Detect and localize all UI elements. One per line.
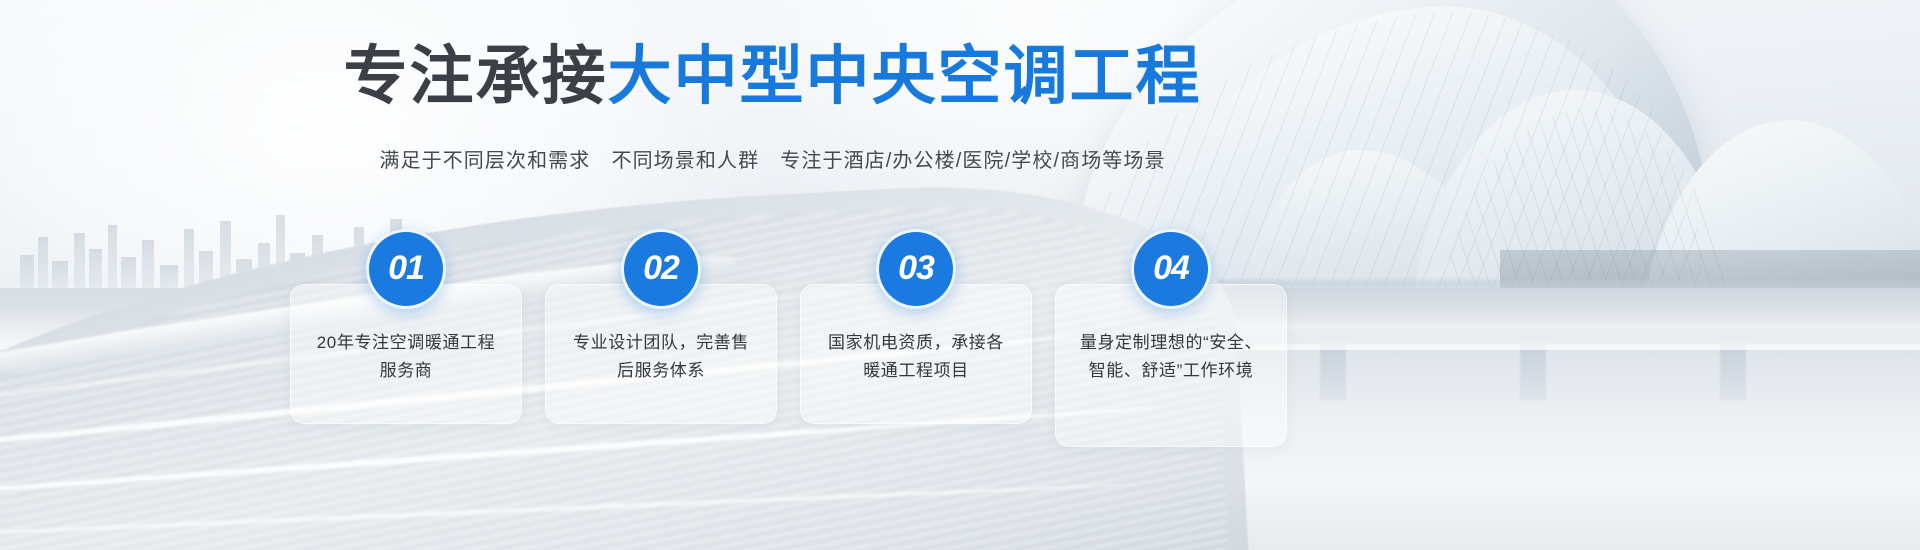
feature-card-body: 04 量身定制理想的“安全、智能、舒适”工作环境: [1055, 284, 1287, 447]
feature-card-02[interactable]: 02 专业设计团队，完善售后服务体系: [545, 284, 777, 424]
feature-number-badge-04: 04: [1131, 229, 1211, 309]
feature-card-text: 专业设计团队，完善售后服务体系: [573, 333, 749, 380]
hero-banner: 专注承接大中型中央空调工程 满足于不同层次和需求 不同场景和人群 专注于酒店/办…: [0, 0, 1920, 550]
feature-number-badge-02: 02: [621, 229, 701, 309]
feature-card-body: 01 20年专注空调暖通工程服务商: [290, 284, 522, 424]
feature-card-body: 03 国家机电资质，承接各暖通工程项目: [800, 284, 1032, 424]
banner-headline: 专注承接大中型中央空调工程: [0, 42, 1545, 111]
feature-card-04[interactable]: 04 量身定制理想的“安全、智能、舒适”工作环境: [1055, 284, 1287, 447]
banner-content: 专注承接大中型中央空调工程 满足于不同层次和需求 不同场景和人群 专注于酒店/办…: [0, 0, 1920, 550]
headline-dark-part: 专注承接: [344, 40, 608, 112]
feature-number-badge-01: 01: [366, 229, 446, 309]
feature-card-body: 02 专业设计团队，完善售后服务体系: [545, 284, 777, 424]
feature-card-03[interactable]: 03 国家机电资质，承接各暖通工程项目: [800, 284, 1032, 424]
feature-card-01[interactable]: 01 20年专注空调暖通工程服务商: [290, 284, 522, 424]
headline-blue-part: 大中型中央空调工程: [608, 40, 1202, 112]
feature-cards: 01 20年专注空调暖通工程服务商 02 专业设计团队，完善售后服务体系 03 …: [290, 218, 1290, 433]
feature-card-text: 量身定制理想的“安全、智能、舒适”工作环境: [1080, 333, 1262, 380]
banner-subheadline: 满足于不同层次和需求 不同场景和人群 专注于酒店/办公楼/医院/学校/商场等场景: [0, 144, 1545, 173]
feature-card-text: 国家机电资质，承接各暖通工程项目: [828, 333, 1004, 380]
feature-number-badge-03: 03: [876, 229, 956, 309]
feature-card-text: 20年专注空调暖通工程服务商: [317, 333, 496, 380]
